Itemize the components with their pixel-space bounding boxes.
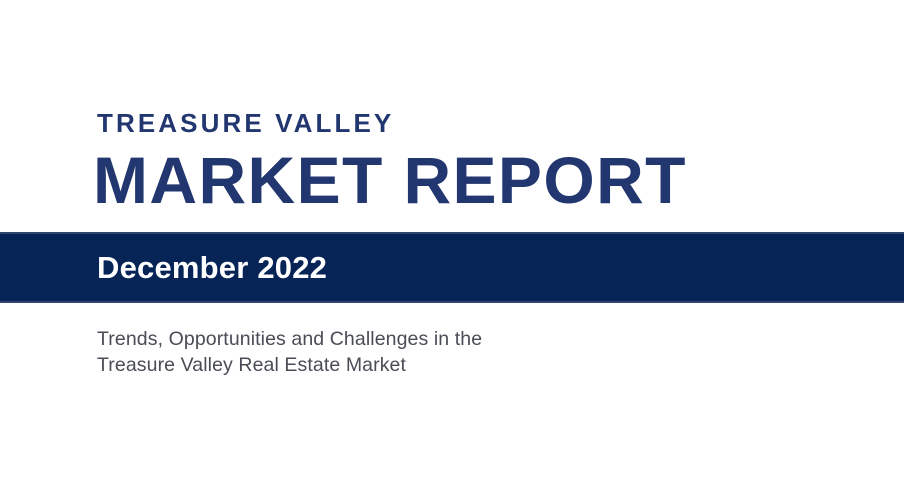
report-date-label: December 2022 (97, 250, 327, 286)
report-eyebrow-title: TREASURE VALLEY (97, 108, 394, 138)
date-banner: December 2022 (0, 232, 904, 303)
report-subtitle-line-2: Treasure Valley Real Estate Market (97, 352, 482, 378)
market-report-cover-page: TREASURE VALLEY MARKET REPORT December 2… (0, 0, 904, 484)
page-title: MARKET REPORT (93, 145, 687, 215)
report-subtitle-line-1: Trends, Opportunities and Challenges in … (97, 326, 482, 352)
report-subtitle: Trends, Opportunities and Challenges in … (97, 326, 482, 378)
